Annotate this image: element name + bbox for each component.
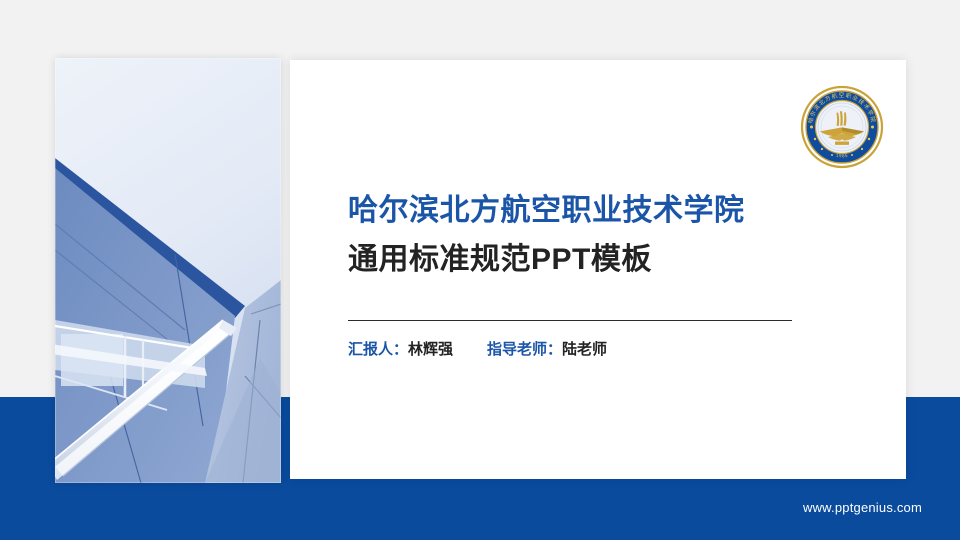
slide-canvas: 哈尔滨北方航空职业技术学院 1985 bbox=[0, 0, 960, 540]
svg-text:1985: 1985 bbox=[836, 153, 849, 159]
presenter-label: 汇报人： bbox=[348, 341, 408, 358]
advisor-label: 指导老师： bbox=[487, 341, 562, 358]
byline: 汇报人：林辉强指导老师：陆老师 bbox=[348, 338, 607, 359]
title-divider bbox=[348, 320, 792, 321]
presenter-name: 林辉强 bbox=[408, 341, 453, 358]
footer-url[interactable]: www.pptgenius.com bbox=[803, 500, 922, 515]
architecture-photo-graphic bbox=[55, 58, 281, 483]
title-block: 哈尔滨北方航空职业技术学院 通用标准规范PPT模板 bbox=[348, 192, 798, 280]
architecture-photo bbox=[55, 58, 281, 483]
page-title: 哈尔滨北方航空职业技术学院 bbox=[348, 192, 798, 230]
page-subtitle: 通用标准规范PPT模板 bbox=[348, 241, 798, 279]
college-logo-emblem: 哈尔滨北方航空职业技术学院 1985 bbox=[800, 85, 884, 169]
college-logo: 哈尔滨北方航空职业技术学院 1985 bbox=[800, 85, 884, 169]
advisor-name: 陆老师 bbox=[562, 341, 607, 358]
